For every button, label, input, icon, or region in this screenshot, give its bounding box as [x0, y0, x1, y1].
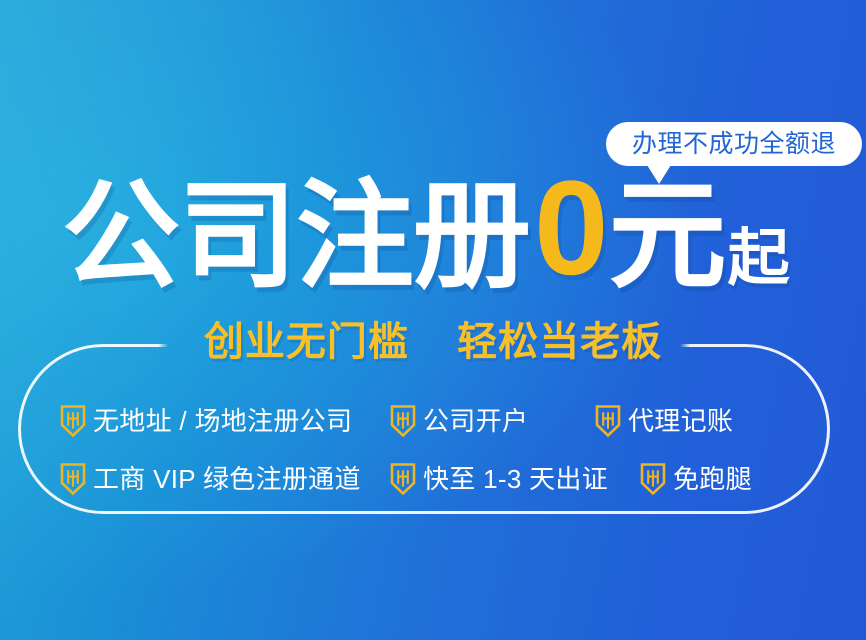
feature-item: 快至 1-3 天出证	[390, 463, 640, 495]
headline-amount: 0	[534, 162, 607, 296]
shield-icon	[60, 405, 86, 437]
background-sheen	[0, 0, 866, 640]
feature-label: 无地址 / 场地注册公司	[93, 408, 352, 434]
shield-icon	[390, 405, 416, 437]
feature-label: 公司开户	[423, 408, 528, 434]
shield-icon	[60, 463, 86, 495]
feature-item: 代理记账	[595, 405, 733, 437]
feature-label: 代理记账	[628, 408, 733, 434]
headline-unit: 元	[609, 178, 726, 296]
feature-row: 无地址 / 场地注册公司 公司开户 代理记账	[60, 392, 820, 450]
subtitle-left: 创业无门槛	[204, 320, 409, 364]
feature-item: 免跑腿	[640, 463, 752, 495]
shield-icon	[595, 405, 621, 437]
subtitle: 创业无门槛 轻松当老板	[0, 322, 866, 362]
headline-suffix: 起	[728, 228, 790, 296]
guarantee-text: 办理不成功全额退	[632, 132, 836, 157]
feature-item: 工商 VIP 绿色注册通道	[60, 463, 390, 495]
shield-icon	[640, 463, 666, 495]
feature-label: 快至 1-3 天出证	[423, 466, 608, 492]
feature-label: 免跑腿	[673, 466, 752, 492]
subtitle-right: 轻松当老板	[457, 320, 662, 364]
headline: 公司注册 0 元 起	[62, 168, 822, 296]
feature-list: 无地址 / 场地注册公司 公司开户 代理记账	[60, 392, 820, 508]
feature-row: 工商 VIP 绿色注册通道 快至 1-3 天出证 免跑腿	[60, 450, 820, 508]
feature-item: 公司开户	[390, 405, 595, 437]
headline-prefix: 公司注册	[62, 178, 530, 296]
promo-banner: 办理不成功全额退 公司注册 0 元 起 创业无门槛 轻松当老板 无地址 / 场地…	[0, 0, 866, 640]
feature-item: 无地址 / 场地注册公司	[60, 405, 390, 437]
feature-label: 工商 VIP 绿色注册通道	[93, 466, 361, 492]
guarantee-bubble: 办理不成功全额退	[606, 122, 862, 166]
shield-icon	[390, 463, 416, 495]
